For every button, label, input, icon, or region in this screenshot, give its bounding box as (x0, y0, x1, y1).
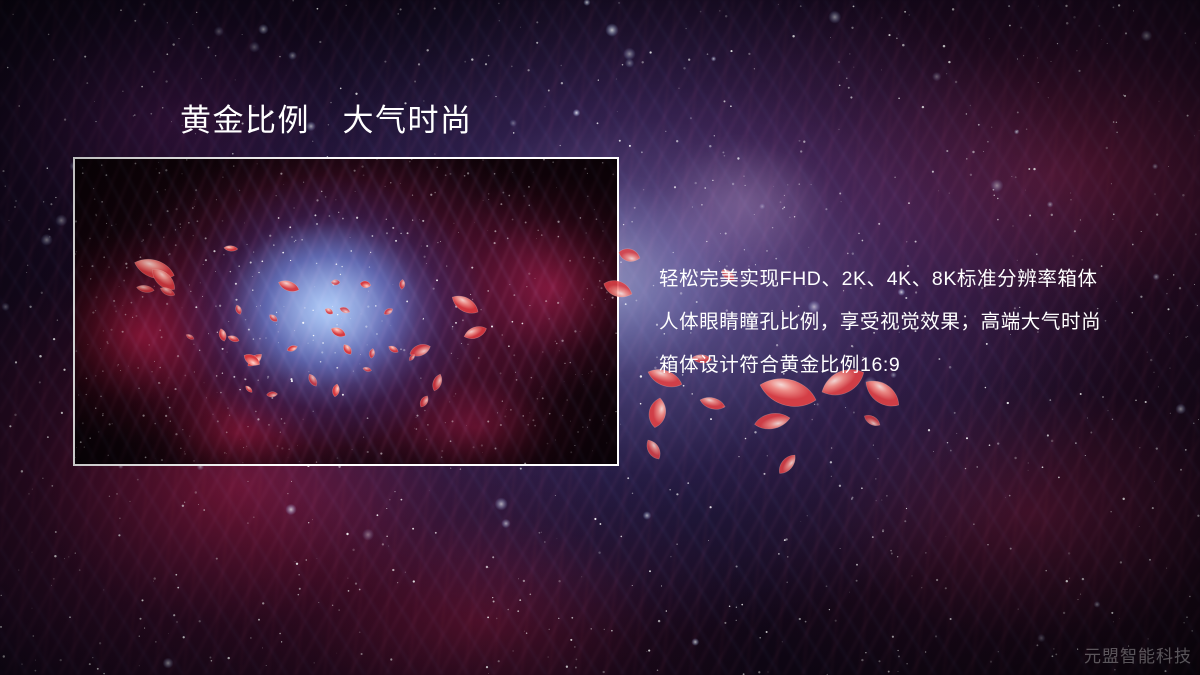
body-line-3: 箱体设计符合黄金比例16:9 (659, 344, 1159, 387)
body-line-1: 轻松完美实现FHD、2K、4K、8K标准分辨率箱体 (659, 258, 1159, 301)
body-line-2: 人体眼睛瞳孔比例，享受视觉效果，高端大气时尚 (659, 301, 1159, 344)
presentation-slide: 黄金比例 大气时尚 轻松完美实现FHD、2K、4K、8K标准分辨率箱体 人体眼睛… (0, 0, 1200, 675)
page-title: 黄金比例 大气时尚 (180, 101, 473, 141)
framed-image-vignette (75, 159, 617, 464)
body-text-block: 轻松完美实现FHD、2K、4K、8K标准分辨率箱体 人体眼睛瞳孔比例，享受视觉效… (659, 258, 1159, 387)
watermark: 元盟智能科技 (1084, 642, 1192, 667)
framed-image[interactable] (73, 157, 619, 466)
